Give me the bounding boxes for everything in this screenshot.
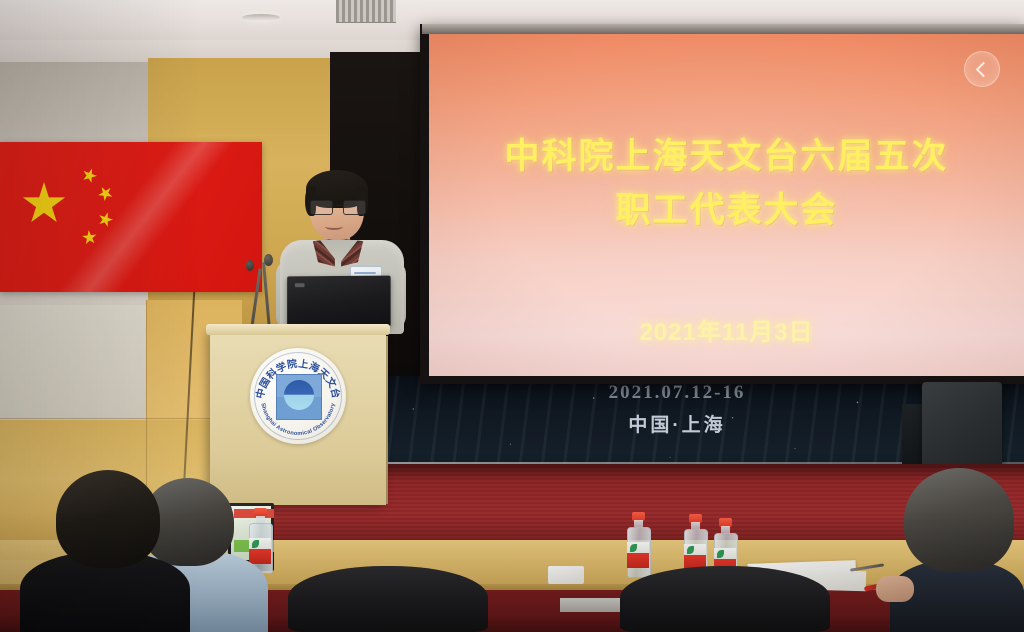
slide-back-button[interactable] [964, 51, 1000, 87]
laptop[interactable] [287, 276, 390, 327]
presenter-mouth [325, 223, 343, 230]
water-bottle[interactable] [626, 512, 650, 576]
glasses-bridge [331, 205, 343, 206]
audience-head [56, 470, 160, 568]
audience-person [20, 470, 190, 632]
ceiling-light-icon [242, 14, 280, 21]
podium-top-surface [206, 324, 390, 335]
chinese-national-flag [0, 142, 262, 292]
napkin [548, 566, 584, 584]
badge-line [354, 272, 376, 274]
glasses-lens-right [343, 200, 366, 215]
microphone-head-icon [246, 260, 254, 271]
slide-title-block: 中科院上海天文台六届五次 职工代表大会 [429, 130, 1024, 239]
slide-date: 2021年11月3日 [429, 312, 1024, 347]
air-vent-icon [336, 0, 396, 23]
flag-glare [0, 142, 262, 292]
laptop-logo-icon [295, 283, 305, 287]
glasses-lens-left [310, 200, 333, 215]
slide-title-line-1: 中科院上海天文台六届五次 [429, 130, 1024, 184]
microphone-head-icon [264, 254, 273, 266]
chevron-left-icon [976, 61, 992, 77]
observatory-seal: 中国科学院上海天文台 Shanghai Astronomical Observa… [250, 348, 346, 444]
seal-dome-icon [284, 380, 314, 410]
audience-head [904, 468, 1014, 572]
conference-hall-photo: 2021.07.12-16 中国·上海 中科院上海天文台六届五次 职工代表大会 … [0, 0, 1024, 632]
chair-back [288, 566, 488, 632]
slide-title-line-2: 职工代表大会 [429, 184, 1024, 238]
backdrop-date-text: 2021.07.12-16 [330, 382, 1024, 404]
audience-hand [876, 576, 914, 602]
projection-screen-top-bar [422, 24, 1024, 34]
glasses-icon [309, 200, 366, 213]
presentation-slide[interactable]: 中科院上海天文台六届五次 职工代表大会 2021年11月3日 [429, 34, 1024, 376]
audience-person [890, 468, 1024, 632]
chair-back [620, 566, 830, 632]
wall-panel-cream [0, 305, 152, 425]
bottle-label-red [627, 553, 649, 568]
seal-emblem-square [276, 374, 322, 420]
wall-seam [0, 418, 242, 419]
